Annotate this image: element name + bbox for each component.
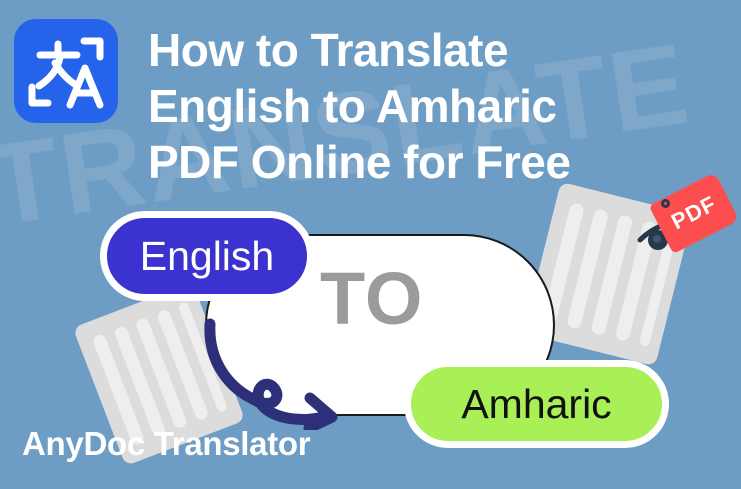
brand-name: AnyDoc Translator: [22, 427, 310, 460]
target-language-label: Amharic: [461, 384, 611, 425]
page-title-line-2: English to Amharic: [148, 78, 738, 134]
target-language-pill[interactable]: Amharic: [404, 360, 669, 448]
curved-arrow-icon: [198, 318, 378, 430]
pdf-tag: PDF: [640, 178, 741, 268]
translate-icon-glyph: [14, 19, 118, 123]
source-language-pill[interactable]: English: [100, 211, 314, 301]
translate-app-icon: [14, 19, 118, 123]
source-language-label: English: [140, 236, 274, 277]
pdf-tag-label: PDF: [655, 185, 733, 242]
poster-canvas: TRANSLATE How to Translate English to Am…: [0, 0, 741, 489]
page-title-line-1: How to Translate: [148, 22, 738, 78]
page-title: How to Translate English to Amharic PDF …: [148, 22, 738, 190]
